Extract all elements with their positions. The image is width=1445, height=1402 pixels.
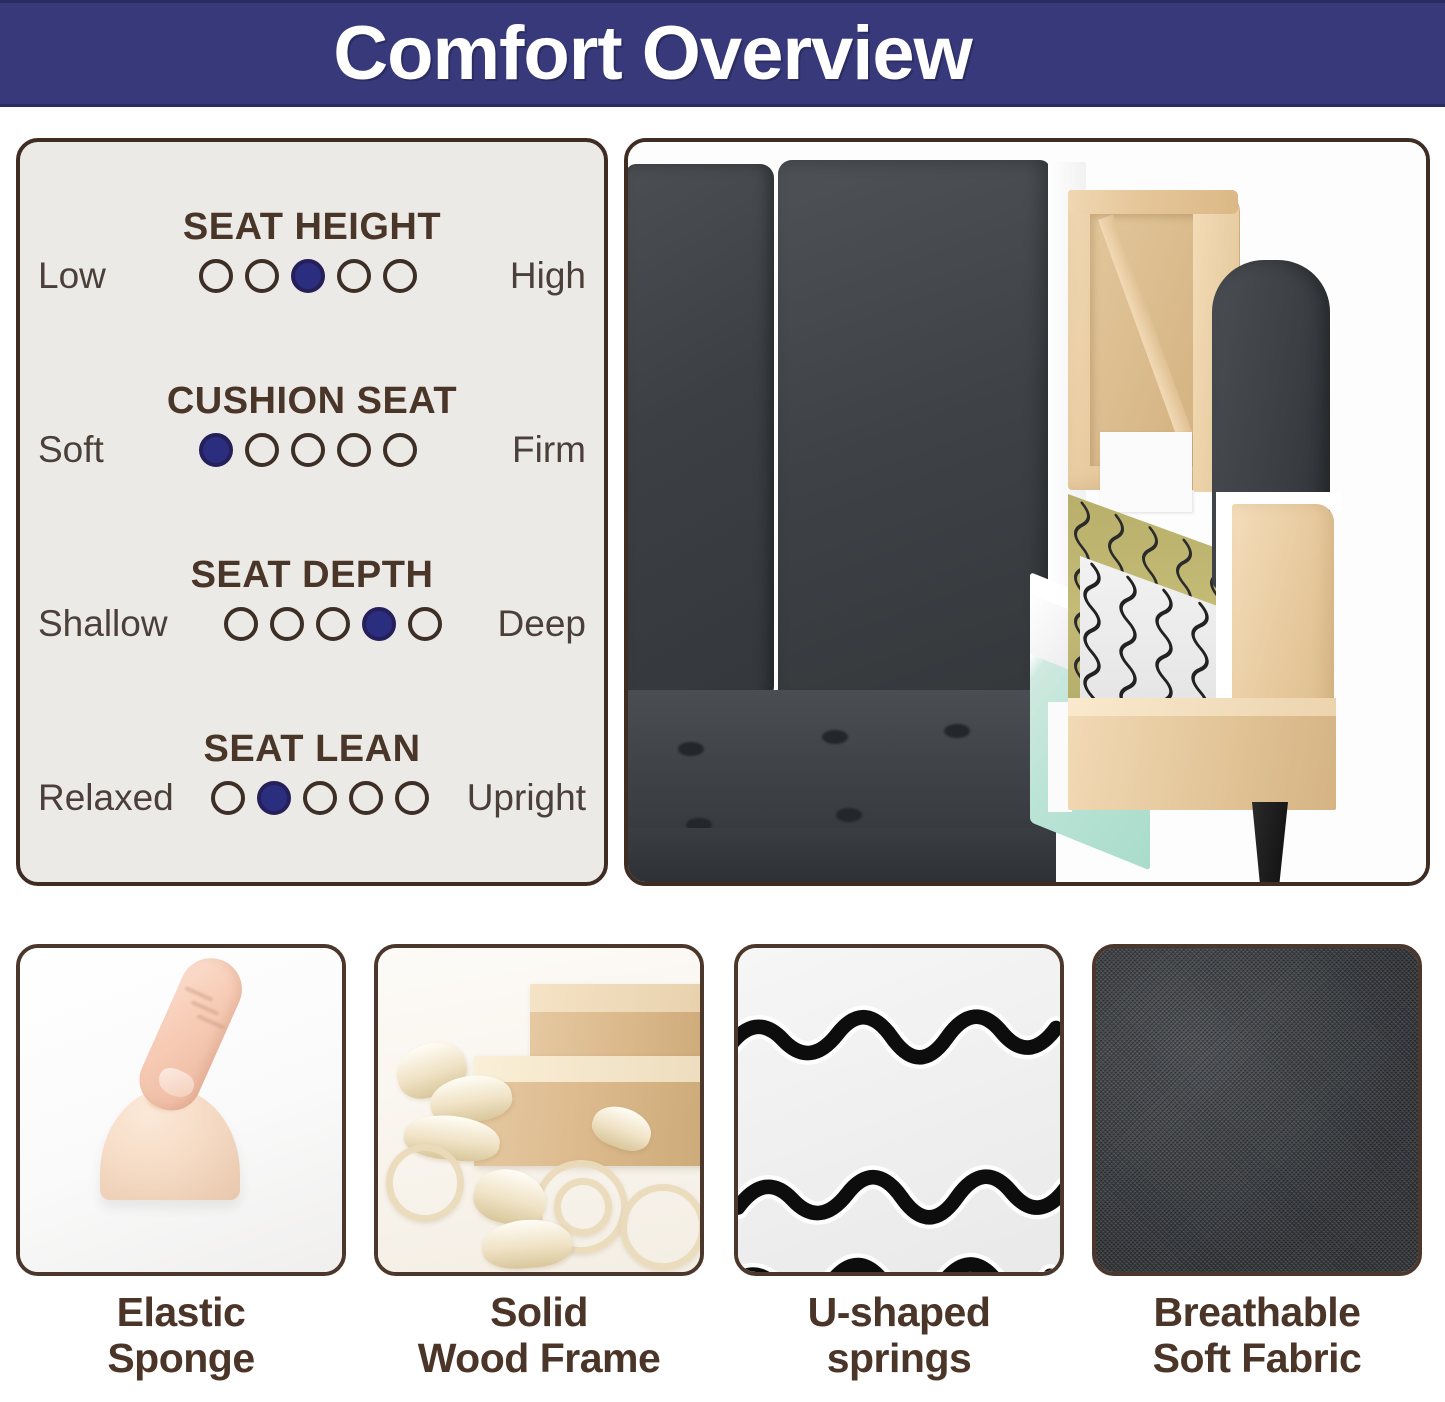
rating-dot-3[interactable] xyxy=(291,433,325,467)
scale-right-label: High xyxy=(510,255,586,297)
caption-line-1: Breathable xyxy=(1154,1289,1361,1335)
sofa-leg xyxy=(1252,802,1288,884)
scale-left-label: Shallow xyxy=(38,603,168,645)
wood-shaving-coil xyxy=(386,1144,464,1222)
caption-line-2: springs xyxy=(734,1336,1064,1382)
sofa-cutaway-panel xyxy=(624,138,1430,886)
rating-dots xyxy=(211,781,429,815)
seat-tuft xyxy=(822,730,848,744)
comfort-scale-row: Low High xyxy=(38,255,586,297)
comfort-group-cushion-seat: CUSHION SEAT Soft Firm xyxy=(38,380,586,471)
caption-line-1: U-shaped xyxy=(808,1289,991,1335)
rating-dot-3[interactable] xyxy=(303,781,337,815)
scale-left-label: Soft xyxy=(38,429,104,471)
rating-dot-3[interactable] xyxy=(316,607,350,641)
feature-caption-fabric: Breathable Soft Fabric xyxy=(1092,1290,1422,1382)
rating-dots xyxy=(199,433,417,467)
back-cushion-right xyxy=(778,160,1050,708)
comfort-scale-row: Shallow Deep xyxy=(38,603,586,645)
wood-block-upper-face xyxy=(530,984,704,1012)
caption-line-2: Sponge xyxy=(16,1336,346,1382)
seat-tuft xyxy=(944,724,970,738)
back-cushion-left xyxy=(626,164,774,704)
sofa-cutaway-illustration xyxy=(628,142,1426,882)
comfort-group-title: SEAT LEAN xyxy=(38,728,586,771)
rating-dot-1[interactable] xyxy=(211,781,245,815)
rating-dots xyxy=(199,259,417,293)
white-padding-block xyxy=(1100,432,1192,512)
rating-dot-5[interactable] xyxy=(383,259,417,293)
comfort-ratings-panel: SEAT HEIGHT Low High CUSHION SEAT Soft xyxy=(16,138,608,886)
wood-shaving-coil xyxy=(620,1184,704,1270)
seat-tuft xyxy=(836,808,862,822)
rating-dot-3[interactable] xyxy=(291,259,325,293)
caption-line-1: Elastic xyxy=(117,1289,246,1335)
feature-thumbnail-springs xyxy=(734,944,1064,1276)
scale-left-label: Low xyxy=(38,255,106,297)
comfort-group-seat-depth: SEAT DEPTH Shallow Deep xyxy=(38,554,586,645)
wood-frame-top-rail xyxy=(1068,190,1238,214)
rating-dot-2[interactable] xyxy=(245,259,279,293)
caption-line-2: Soft Fabric xyxy=(1092,1336,1422,1382)
sofa-lower-body xyxy=(626,828,1056,886)
rating-dots xyxy=(224,607,442,641)
scale-right-label: Deep xyxy=(498,603,586,645)
header-banner: Comfort Overview xyxy=(0,0,1445,107)
comfort-scale-row: Relaxed Upright xyxy=(38,777,586,819)
rating-dot-4[interactable] xyxy=(337,433,371,467)
comfort-group-title: CUSHION SEAT xyxy=(38,380,586,423)
feature-thumbnail-wood-frame xyxy=(374,944,704,1276)
wood-block-lower-face xyxy=(474,1056,704,1082)
rating-dot-1[interactable] xyxy=(224,607,258,641)
rating-dot-5[interactable] xyxy=(408,607,442,641)
caption-line-2: Wood Frame xyxy=(374,1336,704,1382)
rating-dot-2[interactable] xyxy=(245,433,279,467)
u-shaped-springs-graphic xyxy=(738,948,1060,1272)
feature-thumbnail-elastic-sponge xyxy=(16,944,346,1276)
feature-caption-wood-frame: Solid Wood Frame xyxy=(374,1290,704,1382)
comfort-group-title: SEAT HEIGHT xyxy=(38,206,586,249)
rating-dot-1[interactable] xyxy=(199,259,233,293)
rating-dot-4[interactable] xyxy=(349,781,383,815)
rating-dot-2[interactable] xyxy=(257,781,291,815)
feature-thumbnail-fabric xyxy=(1092,944,1422,1276)
feature-caption-springs: U-shaped springs xyxy=(734,1290,1064,1382)
comfort-scale-row: Soft Firm xyxy=(38,429,586,471)
rating-dot-4[interactable] xyxy=(362,607,396,641)
comfort-group-seat-height: SEAT HEIGHT Low High xyxy=(38,206,586,297)
scale-left-label: Relaxed xyxy=(38,777,174,819)
rating-dot-5[interactable] xyxy=(383,433,417,467)
scale-right-label: Firm xyxy=(512,429,586,471)
rating-dot-4[interactable] xyxy=(337,259,371,293)
fabric-swatch-texture xyxy=(1096,948,1418,1272)
comfort-group-seat-lean: SEAT LEAN Relaxed Upright xyxy=(38,728,586,819)
comfort-group-title: SEAT DEPTH xyxy=(38,554,586,597)
caption-line-1: Solid xyxy=(490,1289,588,1335)
seat-tuft xyxy=(678,742,704,756)
wood-frame-bottom-rail-face xyxy=(1068,698,1336,716)
feature-caption-elastic-sponge: Elastic Sponge xyxy=(16,1290,346,1382)
rating-dot-2[interactable] xyxy=(270,607,304,641)
rating-dot-1[interactable] xyxy=(199,433,233,467)
page-title: Comfort Overview xyxy=(333,16,1112,92)
rating-dot-5[interactable] xyxy=(395,781,429,815)
comfort-group-list: SEAT HEIGHT Low High CUSHION SEAT Soft xyxy=(38,164,586,860)
scale-right-label: Upright xyxy=(467,777,586,819)
